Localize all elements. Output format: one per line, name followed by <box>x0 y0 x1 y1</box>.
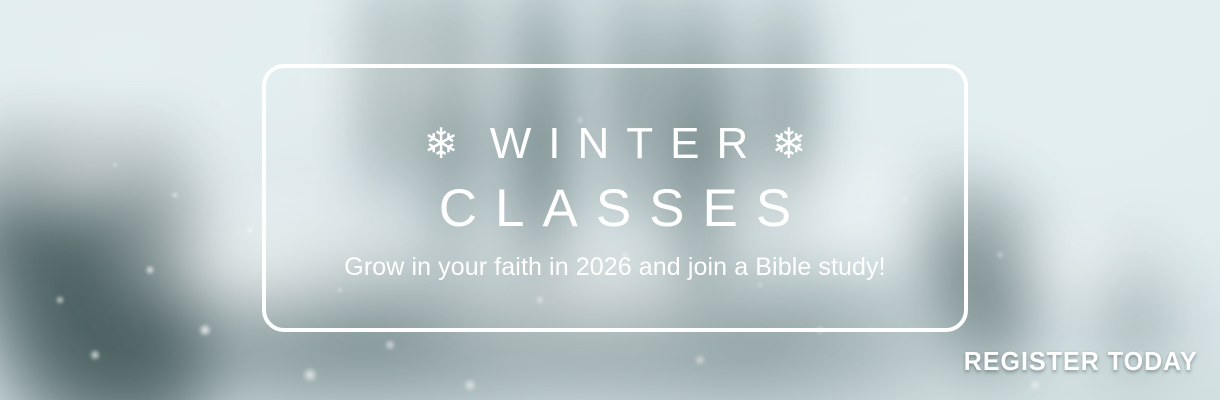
headline-block: ❄ WINTER ❄ CLASSES Grow in your faith in… <box>262 64 968 332</box>
winter-classes-banner: ❄ WINTER ❄ CLASSES Grow in your faith in… <box>0 0 1220 400</box>
snowflake-icon-left: ❄ <box>424 123 459 165</box>
snowflake-icon-right: ❄ <box>771 123 806 165</box>
title-row: ❄ WINTER ❄ <box>424 122 807 166</box>
headline-line-winter: WINTER <box>473 122 766 166</box>
register-today-cta[interactable]: REGISTER TODAY <box>964 348 1198 374</box>
headline-line-classes: CLASSES <box>421 182 810 235</box>
headline-tagline: Grow in your faith in 2026 and join a Bi… <box>344 255 885 280</box>
